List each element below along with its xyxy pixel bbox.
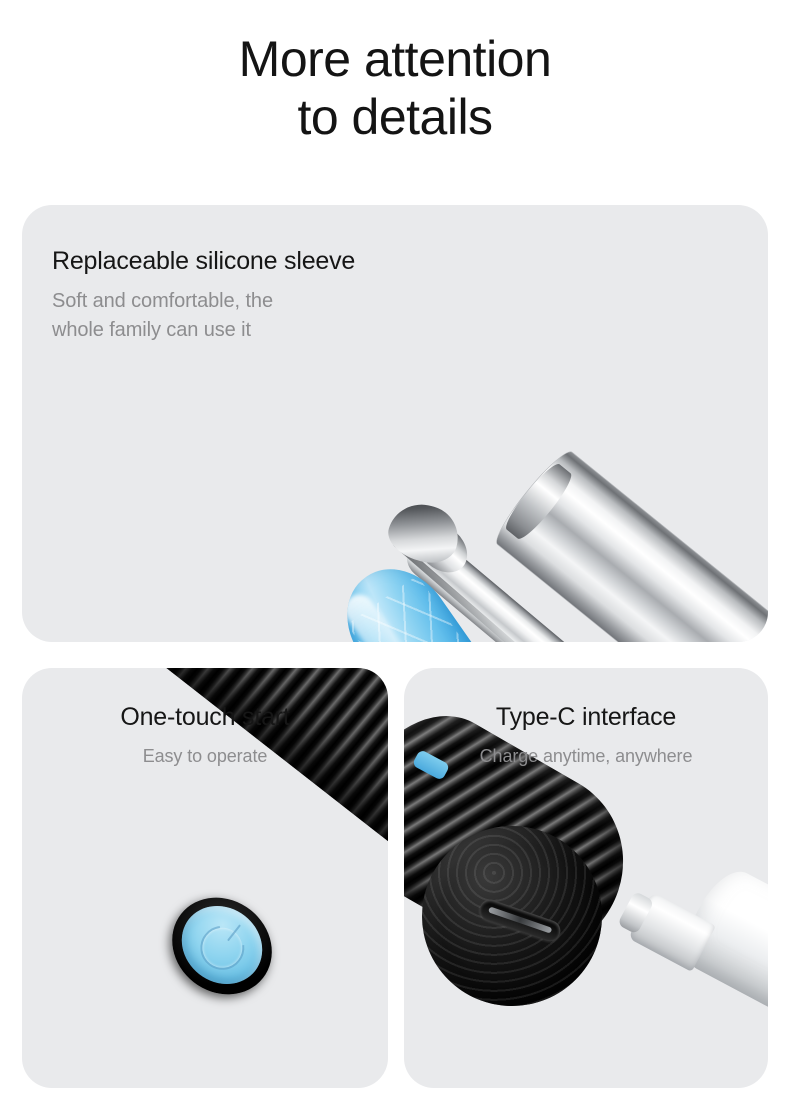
feature-card-silicone-sleeve: Replaceable silicone sleeve Soft and com… xyxy=(22,205,768,642)
feature-card-one-touch-start: One-touch start Easy to operate xyxy=(22,668,388,1088)
silicone-sleeve-subtext: Soft and comfortable, the whole family c… xyxy=(52,287,355,345)
one-touch-start-subtext: Easy to operate xyxy=(22,742,388,771)
page-title-line-2: to details xyxy=(0,88,790,146)
silicone-sleeve-subtext-line-2: whole family can use it xyxy=(52,316,355,345)
feature-card-type-c-interface: Type-C interface Charge anytime, anywher… xyxy=(404,668,768,1088)
one-touch-start-heading: One-touch start xyxy=(22,701,388,733)
one-touch-start-text-block: One-touch start Easy to operate xyxy=(22,701,388,771)
power-icon xyxy=(191,917,253,979)
silicone-sleeve-subtext-line-1: Soft and comfortable, the xyxy=(52,287,355,316)
type-c-interface-subtext-line-1: Charge anytime, anywhere xyxy=(404,742,768,771)
page-title-line-1: More attention xyxy=(0,30,790,88)
type-c-interface-heading: Type-C interface xyxy=(404,701,768,733)
one-touch-start-subtext-line-1: Easy to operate xyxy=(22,742,388,771)
type-c-interface-text-block: Type-C interface Charge anytime, anywher… xyxy=(404,701,768,771)
silicone-sleeve-text-block: Replaceable silicone sleeve Soft and com… xyxy=(52,245,355,345)
device-end-cap-graphic xyxy=(422,826,602,1006)
page-title: More attention to details xyxy=(0,30,790,146)
metal-barrel-graphic xyxy=(490,446,768,642)
product-feature-page: More attention to details Replaceable si… xyxy=(0,0,790,1109)
silicone-sleeve-heading: Replaceable silicone sleeve xyxy=(52,245,355,277)
type-c-interface-subtext: Charge anytime, anywhere xyxy=(404,742,768,771)
